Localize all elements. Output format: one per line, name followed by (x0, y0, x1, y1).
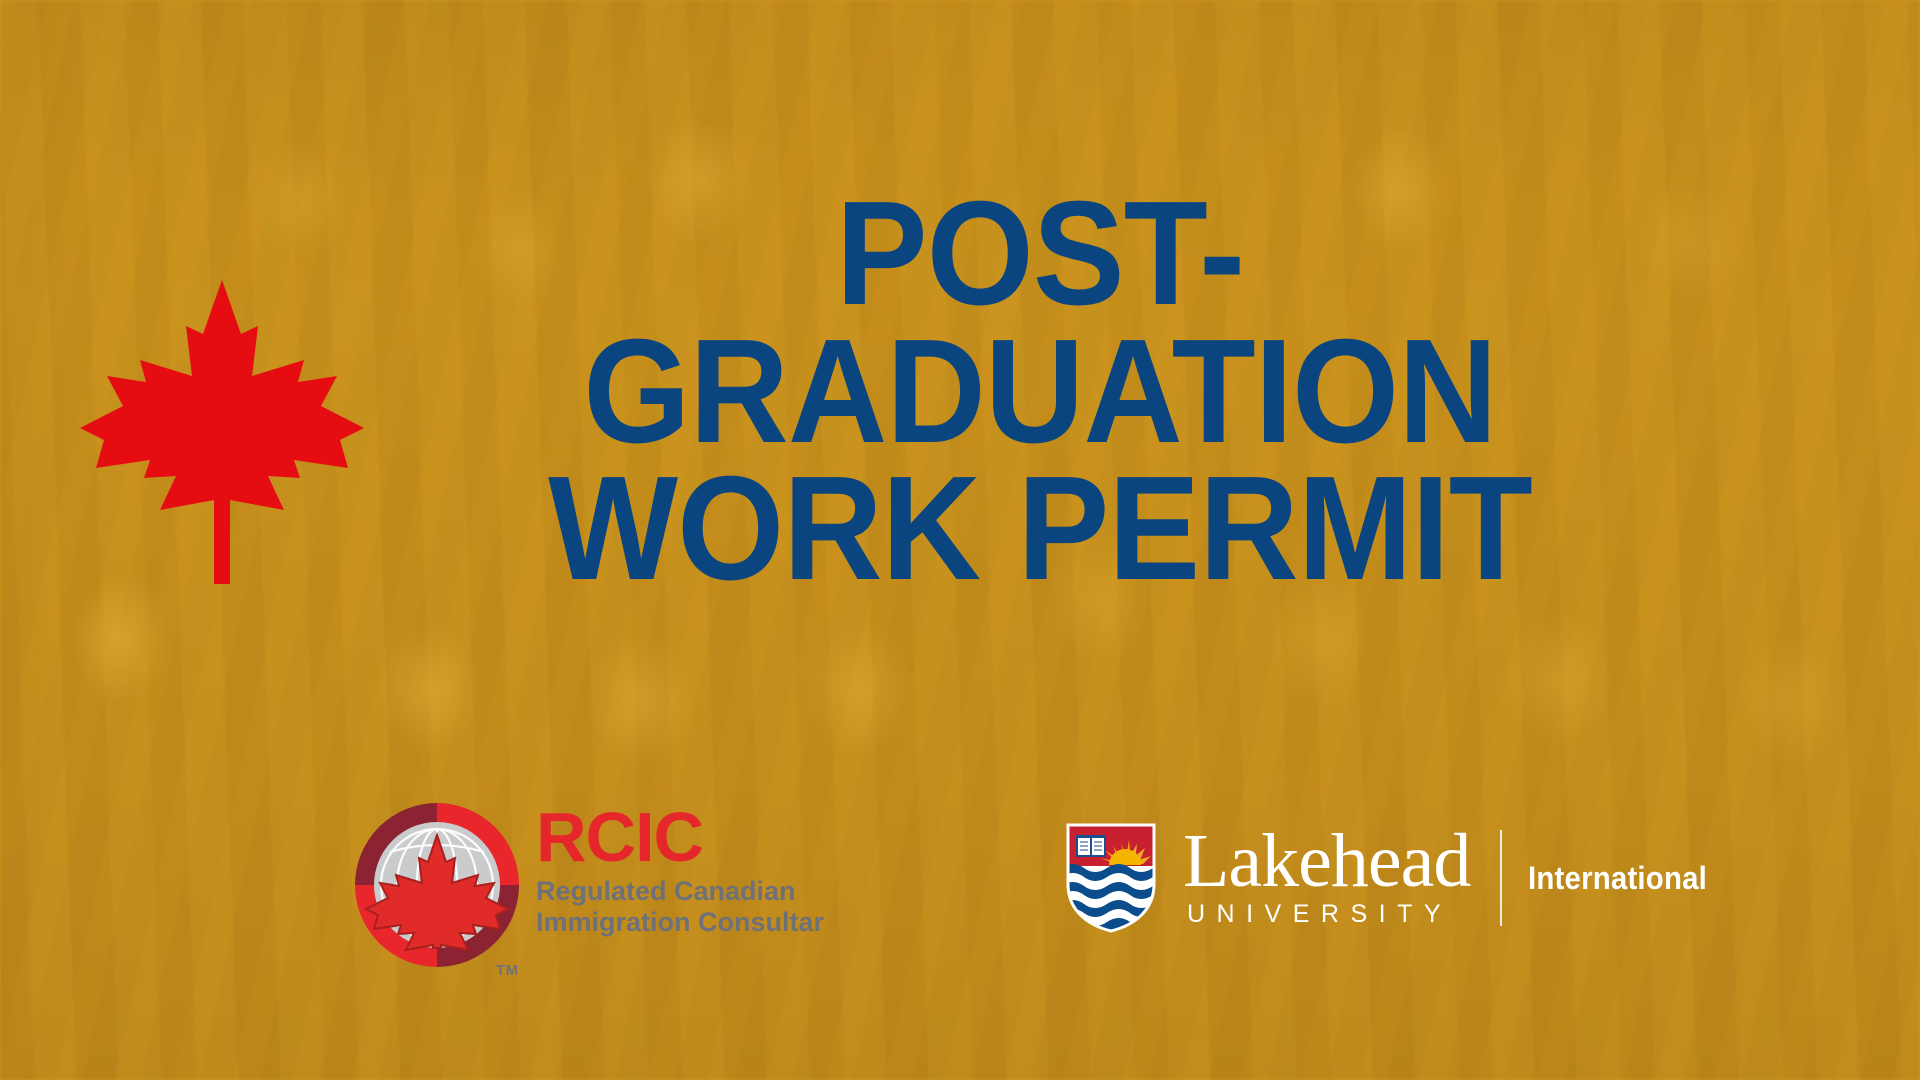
title-line-3: WORK PERMIT (426, 460, 1654, 598)
rcic-emblem-wrap: TM (352, 800, 522, 980)
rcic-tagline: Regulated Canadian Immigration Consultar (536, 876, 824, 938)
rcic-wordmark: RCIC (536, 806, 824, 869)
promo-banner: POST- GRADUATION WORK PERMIT (0, 0, 1920, 1080)
page-title: POST- GRADUATION WORK PERMIT (426, 185, 1654, 598)
title-line-1: POST- (426, 185, 1654, 323)
lakehead-university-logo: Lakehead UNIVERSITY International (1065, 822, 1723, 934)
lakehead-name: Lakehead (1183, 827, 1470, 897)
title-line-2: GRADUATION (426, 323, 1654, 461)
rcic-globe-maple-leaf-emblem (352, 800, 522, 970)
logo-row: TM RCIC Regulated Canadian Immigration C… (0, 800, 1920, 1030)
rcic-trademark: TM (496, 962, 519, 979)
rcic-wordmark-block: RCIC Regulated Canadian Immigration Cons… (536, 800, 824, 938)
maple-leaf-icon (72, 272, 372, 592)
rcic-tagline-line-1: Regulated Canadian (536, 876, 824, 907)
lakehead-wordmark: Lakehead UNIVERSITY (1183, 827, 1470, 930)
lakehead-divider (1500, 830, 1502, 926)
rcic-logo: TM RCIC Regulated Canadian Immigration C… (352, 800, 824, 980)
rcic-tagline-line-2: Immigration Consultar (536, 907, 824, 938)
lakehead-international-label: International (1528, 860, 1707, 897)
lakehead-university-text: UNIVERSITY (1183, 900, 1470, 929)
lakehead-shield-crest (1065, 822, 1157, 934)
